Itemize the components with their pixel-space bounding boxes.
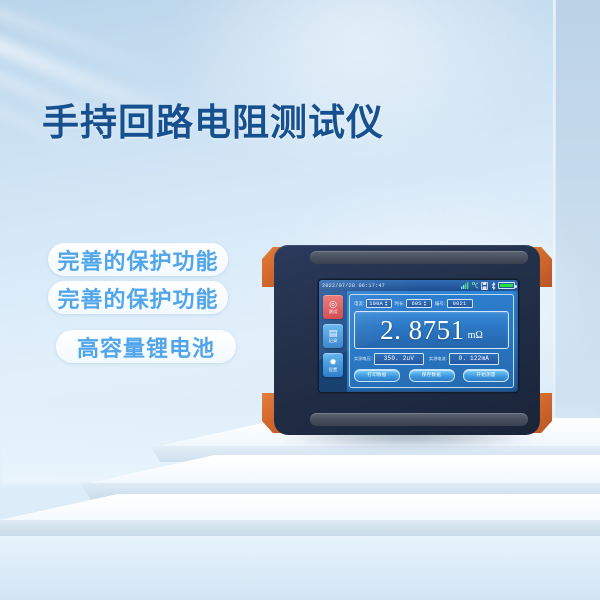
status-datetime: 2022/07/28 06:17:47	[322, 283, 385, 289]
sidebar-item-label: 测试	[329, 310, 338, 315]
param-label: 电流:	[354, 301, 364, 307]
product-banner: 手持回路电阻测试仪 完善的保护功能 完善的保护功能 高容量锂电池	[0, 0, 600, 600]
slab-top-face	[80, 455, 600, 485]
bluetooth-icon	[491, 282, 496, 290]
battery-icon	[498, 282, 515, 289]
voltage-value-box: 350. 2uV	[374, 353, 424, 365]
measured-voltage: 实测电压: 350. 2uV	[354, 353, 424, 365]
print-data-label: 打印数据	[367, 372, 386, 378]
param-duration: 时长: 60S ▲▼	[395, 299, 433, 308]
test-icon: ◎	[329, 300, 337, 309]
temperature-icon	[472, 282, 479, 289]
device-grip-top	[310, 251, 528, 264]
stepper-icon[interactable]: ▲▼	[384, 301, 387, 307]
secondary-label: 实测电压:	[354, 356, 372, 362]
secondary-label: 实测电流:	[429, 356, 447, 362]
duration-selector[interactable]: 60S ▲▼	[406, 299, 432, 308]
sidebar-item-settings[interactable]: ✹ 设置	[323, 353, 343, 377]
screen-content-panel: 电流: 100A ▲▼ 时长: 60S ▲▼	[349, 294, 514, 388]
save-data-label: 保存数据	[422, 372, 441, 378]
print-data-button[interactable]: 打印数据	[354, 369, 400, 382]
floor-area	[0, 536, 600, 600]
status-icon-group	[461, 282, 515, 290]
save-icon	[481, 282, 488, 290]
record-icon: ▤	[329, 329, 338, 338]
current-selector[interactable]: 100A ▲▼	[366, 299, 392, 308]
param-label: 编号:	[435, 301, 445, 307]
current-measured-value: 0. 122mA	[459, 355, 489, 362]
signal-icon	[461, 282, 469, 289]
reading-value: 2. 8751	[380, 317, 465, 344]
device-grip-bottom	[310, 413, 528, 426]
param-number: 编号: 0021	[435, 299, 473, 308]
sidebar-item-test[interactable]: ◎ 测试	[323, 295, 343, 319]
stepper-icon[interactable]: ▲▼	[423, 301, 426, 307]
feature-pill-2: 完善的保护功能	[48, 281, 228, 314]
device-screen[interactable]: 2022/07/28 06:17:47	[319, 280, 518, 392]
record-number-value: 0021	[453, 301, 467, 307]
feature-pill-label: 完善的保护功能	[57, 282, 218, 314]
reading-unit: mΩ	[468, 330, 483, 341]
duration-value: 60S	[411, 301, 421, 307]
voltage-value: 350. 2uV	[384, 355, 414, 362]
sidebar-item-label: 设置	[329, 368, 338, 373]
parameter-row: 电流: 100A ▲▼ 时长: 60S ▲▼	[354, 299, 509, 308]
save-data-button[interactable]: 保存数据	[409, 369, 455, 382]
measured-current: 实测电流: 0. 122mA	[429, 353, 499, 365]
start-measure-button[interactable]: 开始测量	[463, 369, 509, 382]
battery-level-fill	[500, 284, 513, 287]
record-number-field[interactable]: 0021	[447, 299, 473, 308]
sidebar-item-record[interactable]: ▤ 记录	[323, 324, 343, 348]
main-reading-display: 2. 8751 mΩ	[354, 311, 509, 349]
feature-pill-3: 高容量锂电池	[56, 330, 236, 363]
sidebar-item-label: 记录	[329, 339, 338, 344]
slab-top-face	[0, 494, 600, 522]
param-label: 时长:	[395, 301, 405, 307]
screen-sidebar: ◎ 测试 ▤ 记录 ✹ 设置	[319, 291, 347, 392]
current-value-box: 0. 122mA	[449, 353, 499, 365]
start-measure-label: 开始测量	[476, 372, 495, 378]
current-value: 100A	[369, 301, 383, 307]
page-title: 手持回路电阻测试仪	[42, 92, 384, 146]
settings-icon: ✹	[329, 358, 337, 367]
screen-button-row: 打印数据 保存数据 开始测量	[354, 369, 509, 382]
status-bar: 2022/07/28 06:17:47	[319, 280, 518, 291]
handheld-loop-resistance-tester: 2022/07/28 06:17:47	[262, 245, 552, 435]
device-body: 2022/07/28 06:17:47	[274, 245, 540, 435]
feature-pill-label: 完善的保护功能	[57, 244, 218, 276]
secondary-readings-row: 实测电压: 350. 2uV 实测电流: 0. 122mA	[354, 353, 509, 365]
param-current: 电流: 100A ▲▼	[354, 299, 392, 308]
feature-pill-1: 完善的保护功能	[48, 243, 228, 276]
feature-pill-label: 高容量锂电池	[77, 331, 215, 363]
